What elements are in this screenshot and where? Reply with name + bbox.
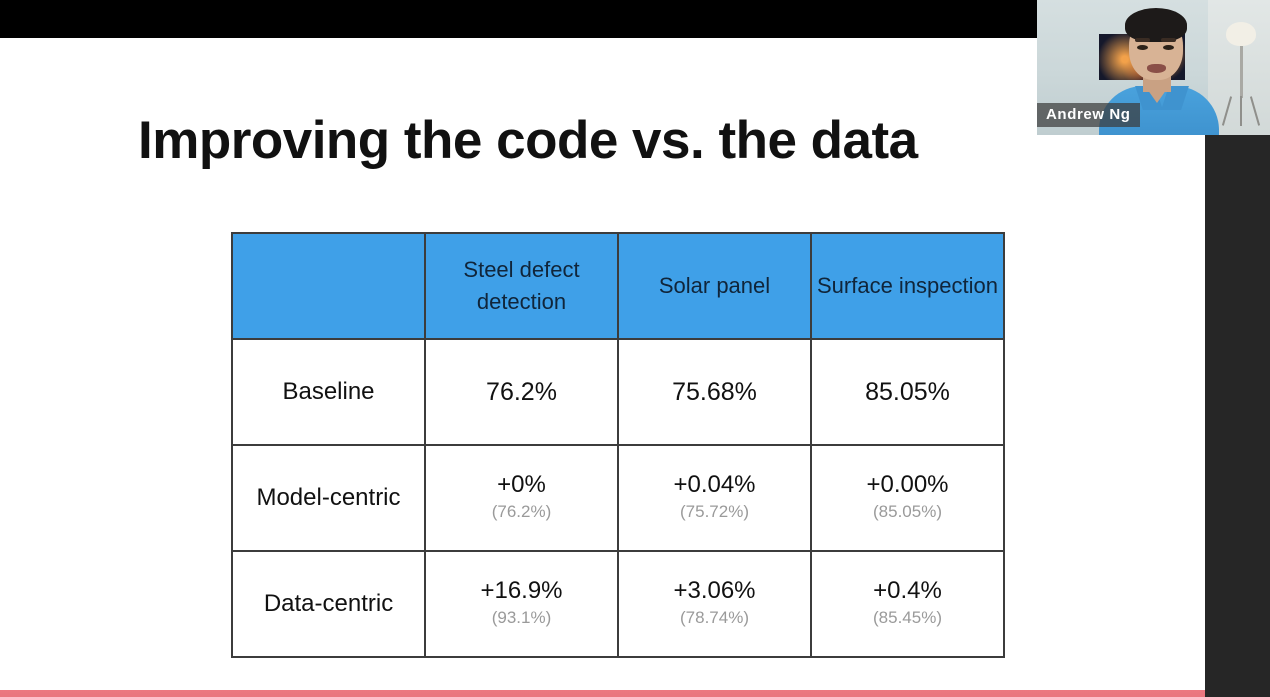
participant-eyebrow-right — [1161, 38, 1176, 42]
cell-value: 85.05% — [812, 378, 1003, 407]
participant-mouth — [1147, 64, 1166, 73]
table-header-row: Steel defect detection Solar panel Surfa… — [232, 233, 1004, 339]
cell-value-absolute: (75.72%) — [619, 498, 810, 525]
participant-video-tile[interactable]: Andrew Ng — [1037, 0, 1270, 135]
participant-hair — [1125, 8, 1187, 42]
participant-eye-left — [1137, 45, 1148, 50]
table-header-solar-panel: Solar panel — [618, 233, 811, 339]
cell-baseline-surface: 85.05% — [811, 339, 1004, 445]
row-label-baseline: Baseline — [232, 339, 425, 445]
floor-lamp-legs — [1224, 96, 1258, 126]
results-comparison-table: Steel defect detection Solar panel Surfa… — [231, 232, 1005, 658]
cell-data-centric-steel: +16.9% (93.1%) — [425, 551, 618, 657]
cell-value-absolute: (85.05%) — [812, 498, 1003, 525]
table-row: Data-centric +16.9% (93.1%) +3.06% (78.7… — [232, 551, 1004, 657]
table-header-blank — [232, 233, 425, 339]
table-row: Baseline 76.2% 75.68% 85.05% — [232, 339, 1004, 445]
cell-value-delta: +3.06% — [619, 577, 810, 605]
floor-lamp-icon — [1226, 22, 1256, 46]
page-title: Improving the code vs. the data — [138, 110, 918, 171]
cell-model-centric-steel: +0% (76.2%) — [425, 445, 618, 551]
cell-value-absolute: (85.45%) — [812, 604, 1003, 631]
cell-data-centric-solar: +3.06% (78.74%) — [618, 551, 811, 657]
cell-value-delta: +0.00% — [812, 471, 1003, 499]
cell-value-delta: +0% — [426, 471, 617, 499]
row-label-data-centric: Data-centric — [232, 551, 425, 657]
letterbox-right-bar — [1205, 135, 1270, 697]
participant-eyebrow-left — [1135, 38, 1150, 42]
table-header-steel-defect-detection: Steel defect detection — [425, 233, 618, 339]
cell-value-absolute: (78.74%) — [619, 604, 810, 631]
participant-eye-right — [1163, 45, 1174, 50]
presentation-slide: Improving the code vs. the data Steel de… — [0, 38, 1205, 652]
participant-name-badge: Andrew Ng — [1037, 103, 1140, 127]
cell-model-centric-solar: +0.04% (75.72%) — [618, 445, 811, 551]
cell-model-centric-surface: +0.00% (85.05%) — [811, 445, 1004, 551]
cell-value: 75.68% — [619, 378, 810, 407]
cell-value-delta: +16.9% — [426, 577, 617, 605]
cell-value-delta: +0.4% — [812, 577, 1003, 605]
zoom-watermark: zoom — [952, 682, 1093, 697]
cell-baseline-steel: 76.2% — [425, 339, 618, 445]
cell-value-absolute: (76.2%) — [426, 498, 617, 525]
floor-lamp-stem — [1240, 46, 1243, 98]
cell-baseline-solar: 75.68% — [618, 339, 811, 445]
zoom-screen-share-view: Improving the code vs. the data Steel de… — [0, 0, 1270, 697]
table-header-surface-inspection: Surface inspection — [811, 233, 1004, 339]
cell-value-absolute: (93.1%) — [426, 604, 617, 631]
cell-data-centric-surface: +0.4% (85.45%) — [811, 551, 1004, 657]
cell-value: 76.2% — [426, 378, 617, 407]
cell-value-delta: +0.04% — [619, 471, 810, 499]
row-label-model-centric: Model-centric — [232, 445, 425, 551]
table-row: Model-centric +0% (76.2%) +0.04% (75.72%… — [232, 445, 1004, 551]
